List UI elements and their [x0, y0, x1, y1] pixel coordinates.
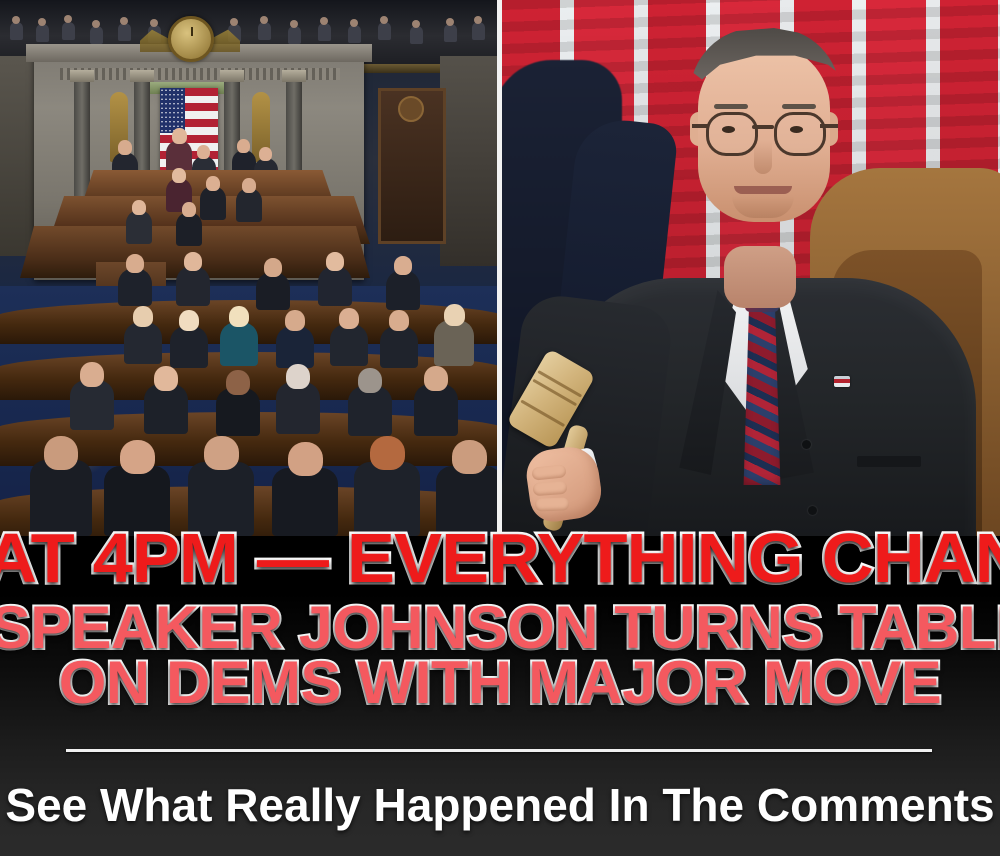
- column-left-outer: [74, 80, 90, 200]
- american-flag-lapel-pin: [834, 376, 850, 387]
- house-chamber-photo: [0, 0, 497, 536]
- rostrum-seated-3-head: [242, 178, 256, 193]
- jacket-pocket-flap: [857, 456, 921, 467]
- column-capital-1: [70, 70, 94, 82]
- flag-stars: [160, 88, 185, 133]
- rostrum-seated-4: [126, 210, 152, 244]
- eyebrow-left: [714, 104, 748, 109]
- column-capital-3: [220, 70, 244, 82]
- text-band: AT 4PM — EVERYTHING CHANGED SPEAKER JOHN…: [0, 536, 1000, 856]
- mouth: [734, 186, 792, 194]
- subheadline: SPEAKER JOHNSON TURNS TABLES ON DEMS WIT…: [0, 600, 1000, 710]
- rostrum-seated-4-head: [132, 200, 146, 215]
- speaker-photo: [502, 0, 1000, 536]
- eyeglasses-left-lens: [706, 112, 758, 156]
- neck: [724, 246, 796, 308]
- rostrum-seated-5: [176, 212, 202, 246]
- jacket-button-top: [802, 440, 811, 449]
- eye-left: [722, 126, 735, 133]
- chamber-scene: [0, 0, 497, 536]
- eyeglasses-temple-right: [820, 124, 838, 128]
- chamber-clock-icon: [168, 16, 214, 62]
- eyeglasses-bridge: [752, 125, 774, 129]
- clerk-3-head: [237, 139, 250, 153]
- subheadline-line-1: SPEAKER JOHNSON TURNS TABLES: [0, 600, 1000, 655]
- eyeglasses-temple-left: [692, 124, 708, 128]
- jacket-button-bottom: [808, 506, 817, 515]
- horizontal-divider: [66, 749, 932, 752]
- rostrum-seated-2-head: [206, 176, 220, 191]
- finger-3: [535, 497, 569, 511]
- clerk-1-head: [118, 140, 132, 155]
- column-capital-2: [130, 70, 154, 82]
- column-capital-4: [282, 70, 306, 82]
- rostrum-seated-5-head: [182, 202, 196, 217]
- rostrum-seated-3: [236, 188, 262, 222]
- chamber-right-wall: [440, 56, 497, 266]
- presiding-officer-head: [172, 128, 187, 144]
- call-to-action-text[interactable]: See What Really Happened In The Comments: [0, 781, 1000, 829]
- rostrum-seated-2: [200, 186, 226, 220]
- doorway-medallion: [398, 96, 424, 122]
- finger-2: [533, 481, 568, 496]
- eye-right: [790, 126, 803, 133]
- eyeglasses-right-lens: [774, 112, 826, 156]
- rostrum-seated-1-head: [172, 168, 186, 183]
- clerk-4-head: [259, 147, 272, 161]
- nose: [754, 140, 772, 174]
- headline: AT 4PM — EVERYTHING CHANGED: [0, 523, 1000, 593]
- photo-band: [0, 0, 1000, 536]
- clerk-2-head: [197, 145, 210, 159]
- speaker-scene: [502, 0, 1000, 536]
- social-media-poster: AT 4PM — EVERYTHING CHANGED SPEAKER JOHN…: [0, 0, 1000, 856]
- subheadline-line-2: ON DEMS WITH MAJOR MOVE: [0, 655, 1000, 710]
- chamber-left-wall: [0, 56, 38, 256]
- eyebrow-right: [782, 104, 816, 109]
